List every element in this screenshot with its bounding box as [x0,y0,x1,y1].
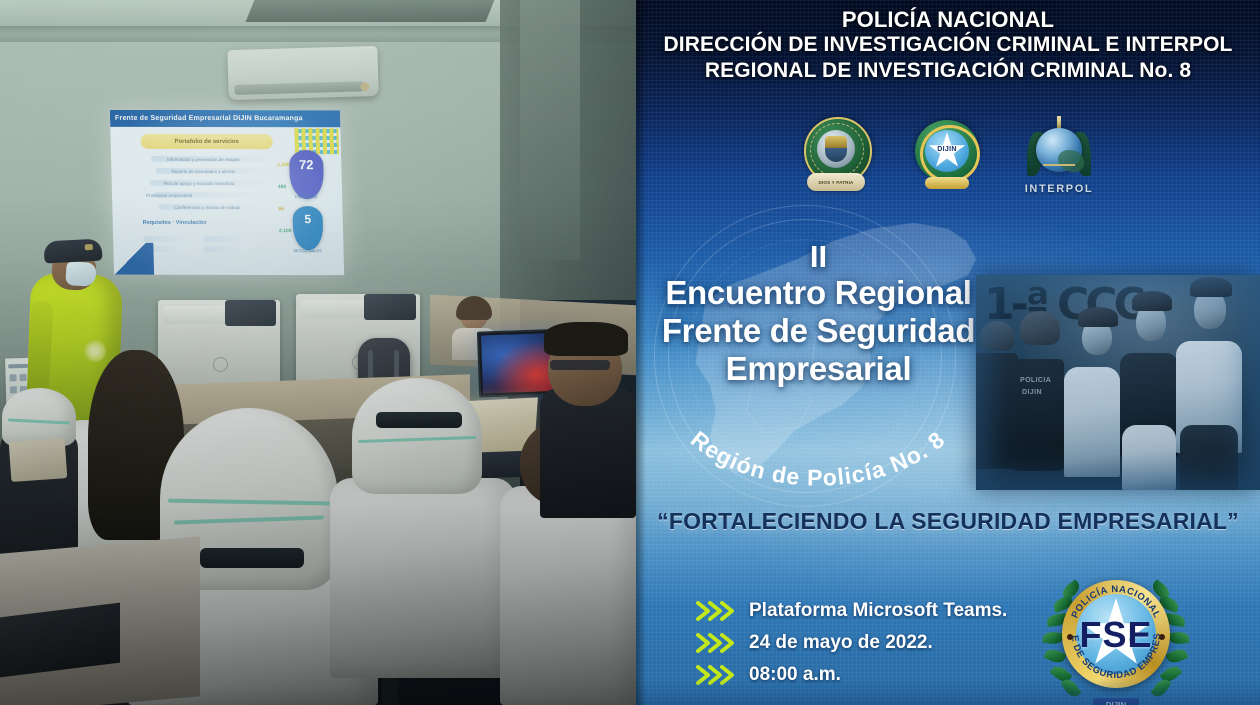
paper-stack [9,438,68,482]
training-room-photo: Frente de Seguridad Empresarial DIJIN Bu… [0,0,636,705]
poster-composite: Frente de Seguridad Empresarial DIJIN Bu… [0,0,1260,705]
civilian-white-shirt [1064,367,1120,477]
air-conditioner-icon [227,46,378,100]
region-arc-text: Región de Policía No. 8 [648,400,988,510]
header-line-2: DIRECCIÓN DE INVESTIGACIÓN CRIMINAL E IN… [636,33,1260,57]
seal-crest [825,136,847,162]
vest-label: POLICIA [1020,377,1051,384]
officer-helmet [1020,311,1060,345]
slide-row-label: Reporte de novedades y alertas [171,169,235,174]
presenter-cap [43,238,102,263]
mini-stat-value: 1.200 [277,162,290,168]
attendee-dark-shirt [540,388,636,518]
face-mask-icon [65,261,97,287]
officer-helmet [980,321,1014,351]
seal-scroll-text: DIOS Y PATRIA [807,173,865,191]
presenter-jacket-emblem [84,340,106,362]
event-title-block: II Encuentro Regional Frente de Segurida… [646,240,991,388]
detail-item: 24 de mayo de 2022. [696,630,1096,655]
slide-subsection-label: Requisitos · Vinculación [143,220,207,226]
slide-row-label: Red de apoyo y reacción inmediata [164,181,235,186]
vest-label: DIJIN [1022,389,1042,396]
event-poster: POLICÍA NACIONAL DIRECCIÓN DE INVESTIGAC… [636,0,1260,705]
cap-emblem [85,244,93,250]
printer-control-panel [364,294,416,320]
triple-chevron-icon [696,665,738,685]
title-roman-numeral: II [646,240,991,274]
slide-title: Frente de Seguridad Empresarial DIJIN Bu… [110,110,344,127]
poster-thumb [19,374,26,381]
slide-row [143,236,187,242]
triple-chevron-icon [696,601,738,621]
slide-section-pill: Portafolio de servicios [140,134,272,149]
slide-row [203,246,243,252]
event-tagline: “FORTALECIENDO LA SEGURIDAD EMPRESARIAL” [636,508,1260,535]
interpol-label: INTERPOL [1020,183,1098,195]
dijin-label: DIJIN [913,146,981,153]
header-line-1: POLICÍA NACIONAL [636,7,1260,33]
arc-svg: Región de Policía No. 8 [648,400,988,510]
civilian-light-pants [1122,425,1176,490]
hp-printer [158,300,280,386]
leaf [1060,676,1081,699]
colombian-national-police-seal-icon: DIOS Y PATRIA [801,115,871,193]
dijin-seal-icon: DIJIN [913,119,981,189]
projection-screen: Frente de Seguridad Empresarial DIJIN Bu… [110,110,344,275]
poster-thumb [10,386,17,393]
ceiling-light-strip [246,0,495,22]
mask-band [200,548,304,568]
attendee-shirt [500,486,636,705]
mask-band [376,412,462,428]
attendee-shirt [330,478,516,678]
dijin-base-scroll [925,177,969,189]
fse-logo-icon: POLICÍA NACIONAL FRENTE DE SEGURIDAD EMP… [1041,570,1191,705]
person-cap [1132,291,1172,311]
slide-row-label: Conferencias y mesas de trabajo [174,205,240,210]
projected-slide: Frente de Seguridad Empresarial DIJIN Bu… [110,110,344,275]
ac-vent [234,81,364,95]
detail-text: 08:00 a.m. [749,664,841,686]
civilian-dark-pants [1180,425,1238,490]
attendee-hair [544,322,628,356]
person-cap [1078,307,1118,327]
eyeglasses-icon [550,360,610,370]
stat-empresas-badge: 72 [289,150,324,199]
slide-section-label: Portafolio de servicios [140,134,272,149]
ac-indicator-light [360,82,369,91]
event-details-list: Plataforma Microsoft Teams. 24 de mayo d… [696,598,1096,694]
emblem-row: DIOS Y PATRIA DIJIN INTERPOL [636,108,1260,200]
seal-scroll: DIOS Y PATRIA [807,173,865,191]
interpol-scales-icon [1043,164,1075,178]
detail-item: Plataforma Microsoft Teams. [696,598,1096,623]
attendee-cap [2,388,76,446]
printer-control-panel [225,300,276,326]
detail-text: 24 de mayo de 2022. [749,632,933,654]
mini-stat-value: 2.100 [279,228,292,234]
slide-row-label: Protección empresarial [146,193,192,198]
wall-column-secondary [520,0,580,260]
fse-foot-label: DIJIN [1093,698,1139,705]
triple-chevron-icon [696,633,738,653]
title-line-1: Encuentro Regional [646,274,991,312]
officer-vest [1012,359,1064,471]
interpol-seal-icon: INTERPOL [1023,114,1095,194]
title-line-3: Empresarial [646,350,991,388]
attendee-head [104,352,166,420]
mini-stat-value: 480 [278,184,287,190]
poster-left-edge-shadow [636,0,646,705]
detail-item: 08:00 a.m. [696,662,1096,687]
person-hair [456,296,492,320]
stat-seccionales-caption: SECCIONALES [285,248,329,253]
slide-row [203,236,247,242]
fse-letters: FSE [1041,614,1191,656]
detail-text: Plataforma Microsoft Teams. [749,600,1007,622]
title-line-2: Frente de Seguridad [646,312,991,350]
formation-photo-inset: 1-ª CCC POLICIA DIJIN [976,275,1260,490]
stat-empresas-caption: EMPRESAS [284,194,328,199]
header-line-3: REGIONAL DE INVESTIGACIÓN CRIMINAL No. 8 [636,59,1260,83]
poster-thumb [9,374,16,381]
arc-label: Región de Policía No. 8 [686,426,950,491]
slide-footer-accent [113,243,154,275]
slide-row-label: Información y prevención de riesgos [167,157,239,162]
hp-logo-icon [213,357,228,372]
person-cap [1190,277,1232,297]
stat-seccionales-badge: 5 [292,206,323,250]
mini-stat-value: 65 [278,206,284,212]
